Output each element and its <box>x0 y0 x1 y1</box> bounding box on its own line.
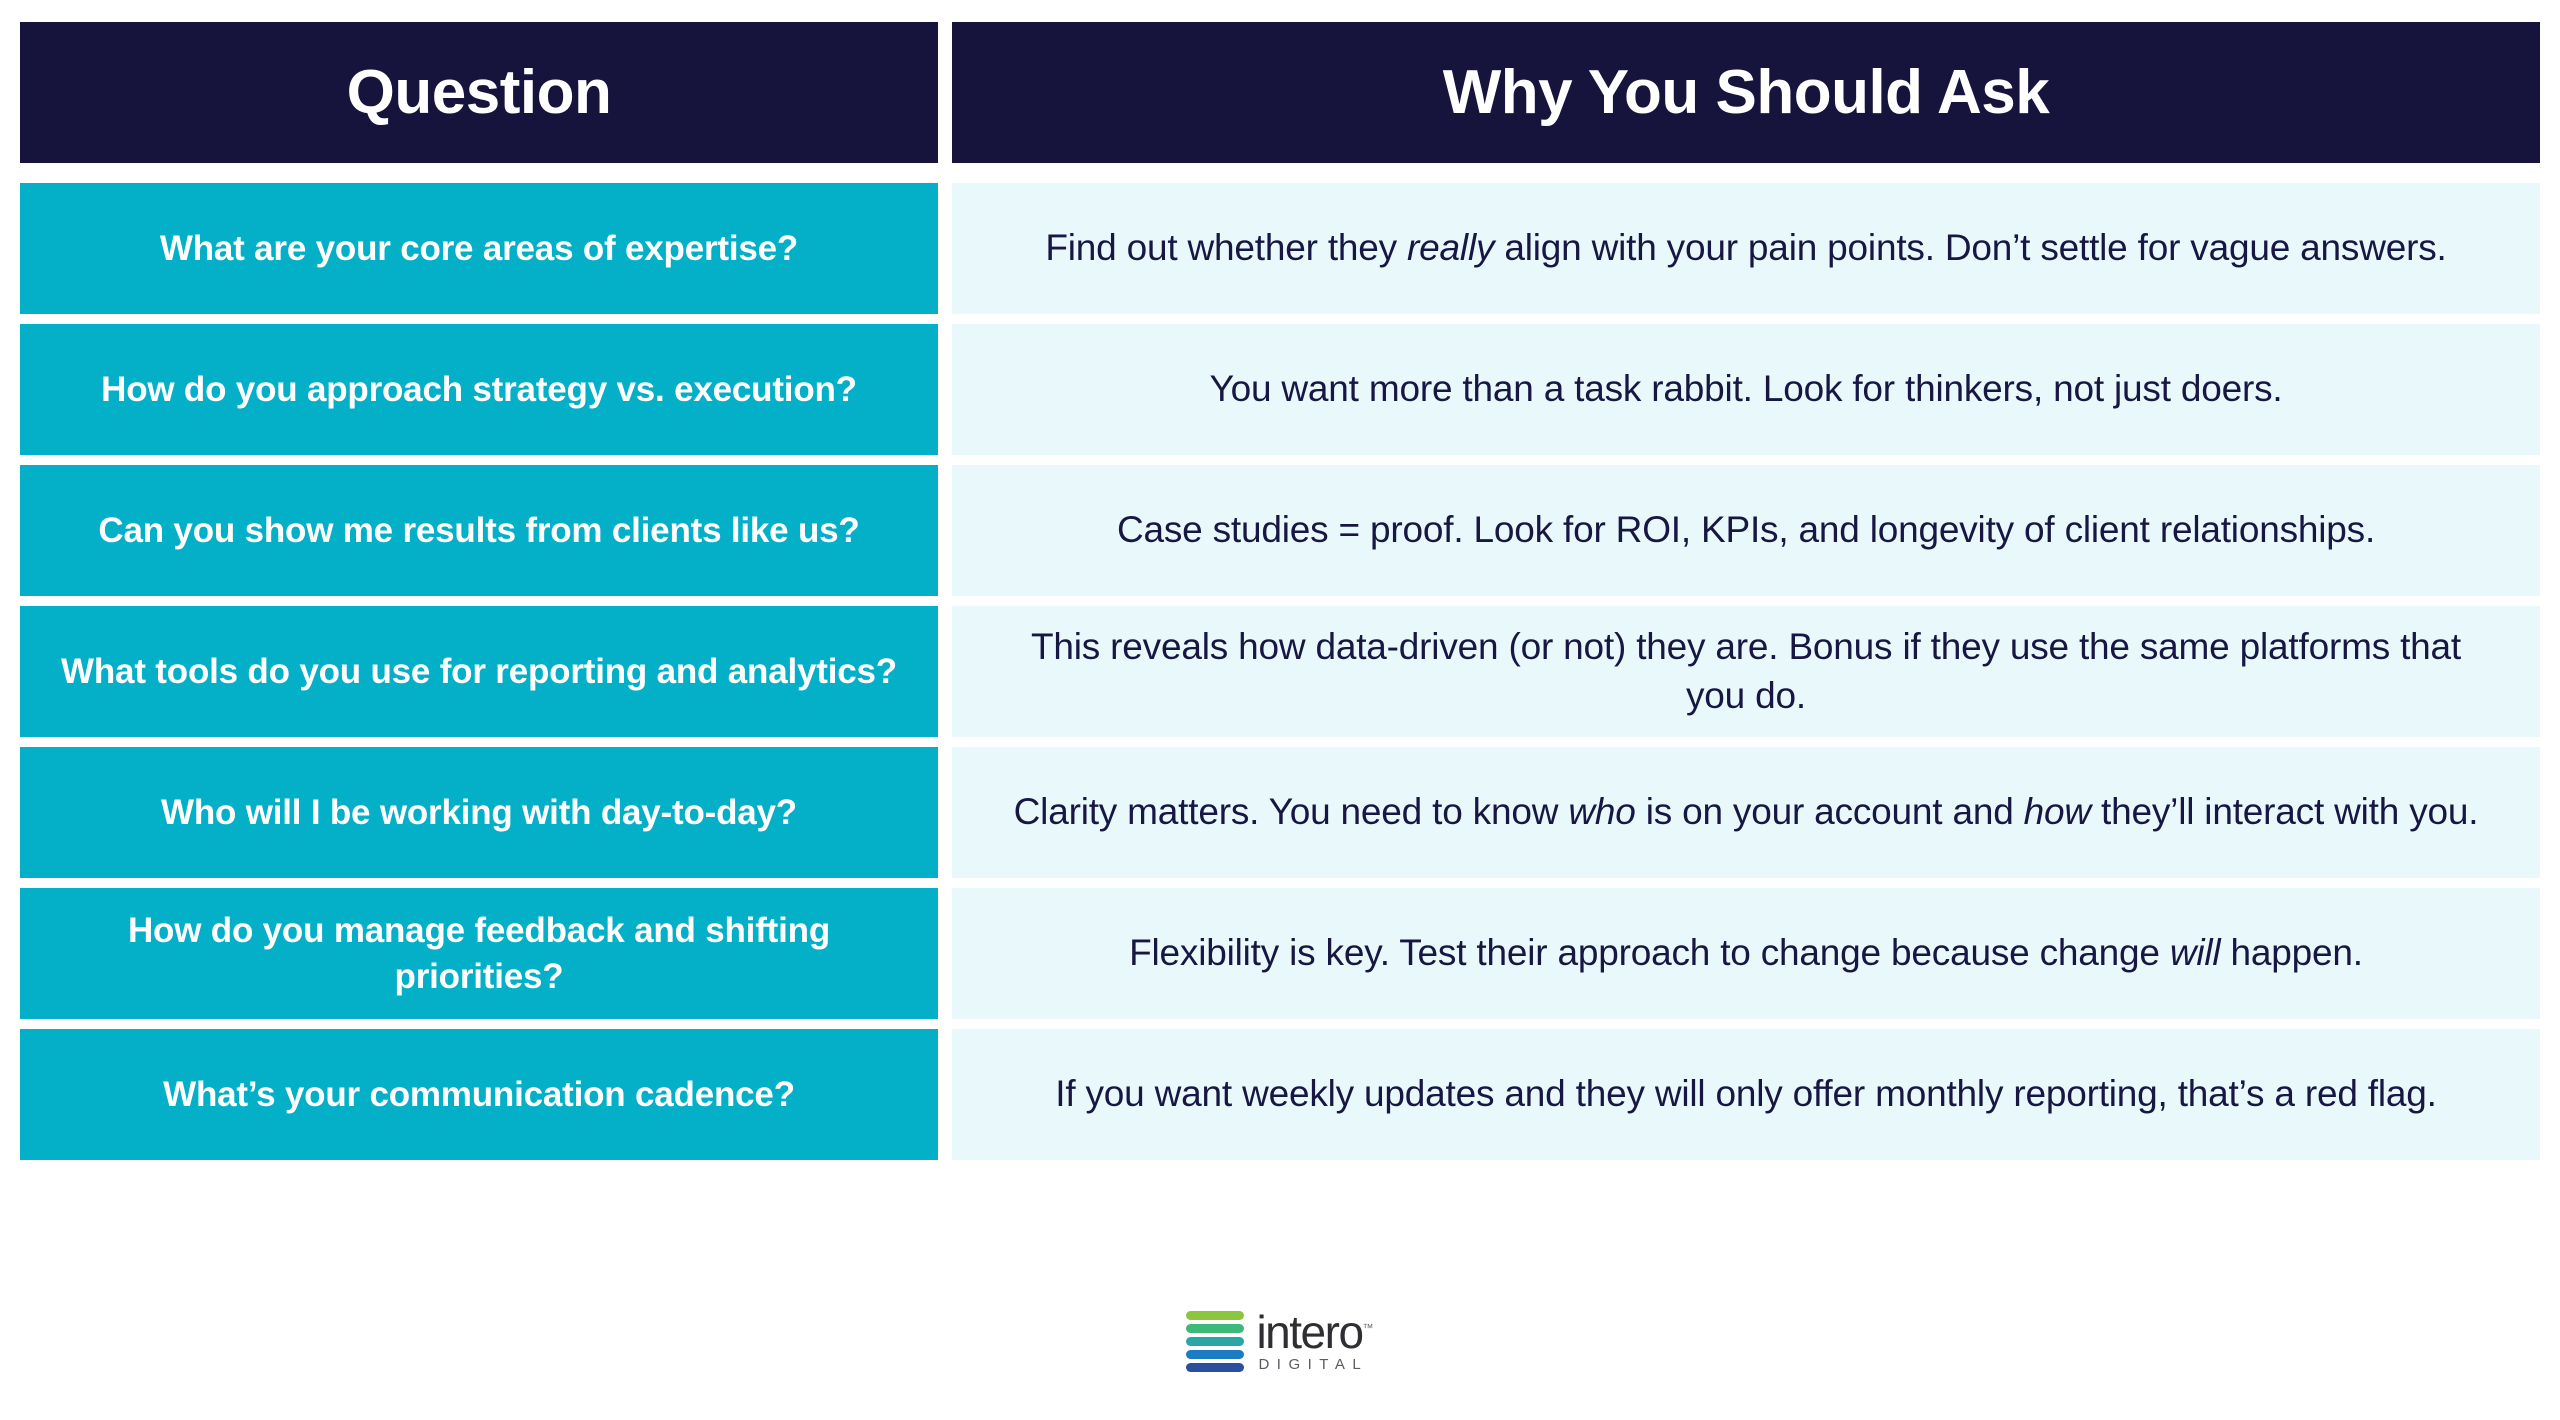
reason-cell: You want more than a task rabbit. Look f… <box>952 324 2540 455</box>
logo-bar-4 <box>1186 1350 1244 1359</box>
qa-table: Question Why You Should Ask What are you… <box>20 22 2540 1160</box>
reason-emphasis: really <box>1407 227 1494 268</box>
logo-bar-1 <box>1186 1311 1244 1320</box>
header-label-reason: Why You Should Ask <box>1443 62 2049 124</box>
header-cell-question: Question <box>20 22 938 163</box>
reason-cell: This reveals how data-driven (or not) th… <box>952 606 2540 737</box>
reason-segment: happen. <box>2220 932 2362 973</box>
reason-segment: Case studies = proof. Look for ROI, KPIs… <box>1117 509 2375 550</box>
reason-text: This reveals how data-driven (or not) th… <box>1012 623 2480 721</box>
reason-cell: Case studies = proof. Look for ROI, KPIs… <box>952 465 2540 596</box>
reason-cell: Clarity matters. You need to know who is… <box>952 747 2540 878</box>
logo-wordmark: intero™ <box>1256 1311 1373 1353</box>
logo-wordmark-text: intero <box>1256 1306 1362 1358</box>
table-row: What tools do you use for reporting and … <box>20 606 2540 737</box>
logo-subtitle: DIGITAL <box>1258 1357 1368 1372</box>
question-cell: How do you manage feedback and shifting … <box>20 888 938 1019</box>
question-text: How do you approach strategy vs. executi… <box>101 367 857 413</box>
intero-digital-logo: intero™ DIGITAL <box>1186 1311 1373 1372</box>
reason-segment: Find out whether they <box>1045 227 1407 268</box>
reason-text: If you want weekly updates and they will… <box>1055 1070 2436 1119</box>
table-row: How do you approach strategy vs. executi… <box>20 324 2540 455</box>
reason-segment: they’ll interact with you. <box>2091 791 2478 832</box>
brand-logo-area: intero™ DIGITAL <box>0 1311 2560 1372</box>
reason-text: Flexibility is key. Test their approach … <box>1129 929 2363 978</box>
logo-trademark-icon: ™ <box>1363 1323 1374 1335</box>
table-row: Who will I be working with day-to-day?Cl… <box>20 747 2540 878</box>
reason-segment: You want more than a task rabbit. Look f… <box>1209 368 2282 409</box>
table-body: What are your core areas of expertise?Fi… <box>20 183 2540 1160</box>
reason-segment: is on your account and <box>1636 791 2024 832</box>
reason-segment: If you want weekly updates and they will… <box>1055 1073 2436 1114</box>
logo-bar-5 <box>1186 1363 1244 1372</box>
table-header-row: Question Why You Should Ask <box>20 22 2540 163</box>
reason-text: You want more than a task rabbit. Look f… <box>1209 365 2282 414</box>
reason-cell: If you want weekly updates and they will… <box>952 1029 2540 1160</box>
question-text: What tools do you use for reporting and … <box>61 649 897 695</box>
logo-bars-icon <box>1186 1311 1244 1372</box>
logo-bar-3 <box>1186 1337 1244 1346</box>
question-text: What’s your communication cadence? <box>163 1072 795 1118</box>
reason-text: Find out whether they really align with … <box>1045 224 2446 273</box>
reason-emphasis: will <box>2170 932 2221 973</box>
question-cell: Who will I be working with day-to-day? <box>20 747 938 878</box>
header-label-question: Question <box>347 62 612 124</box>
reason-segment: Flexibility is key. Test their approach … <box>1129 932 2170 973</box>
question-cell: What are your core areas of expertise? <box>20 183 938 314</box>
reason-text: Case studies = proof. Look for ROI, KPIs… <box>1117 506 2375 555</box>
reason-emphasis: how <box>2024 791 2091 832</box>
question-cell: How do you approach strategy vs. executi… <box>20 324 938 455</box>
table-row: How do you manage feedback and shifting … <box>20 888 2540 1019</box>
question-text: Who will I be working with day-to-day? <box>161 790 797 836</box>
infographic-page: Question Why You Should Ask What are you… <box>0 0 2560 1420</box>
reason-segment: Clarity matters. You need to know <box>1014 791 1569 832</box>
reason-emphasis: who <box>1568 791 1635 832</box>
logo-wordmark-group: intero™ DIGITAL <box>1256 1311 1373 1371</box>
question-text: How do you manage feedback and shifting … <box>46 908 912 999</box>
question-cell: Can you show me results from clients lik… <box>20 465 938 596</box>
question-text: What are your core areas of expertise? <box>160 226 798 272</box>
logo-bar-2 <box>1186 1324 1244 1333</box>
header-cell-reason: Why You Should Ask <box>952 22 2540 163</box>
reason-cell: Find out whether they really align with … <box>952 183 2540 314</box>
table-row: What are your core areas of expertise?Fi… <box>20 183 2540 314</box>
reason-cell: Flexibility is key. Test their approach … <box>952 888 2540 1019</box>
table-row: Can you show me results from clients lik… <box>20 465 2540 596</box>
reason-text: Clarity matters. You need to know who is… <box>1014 788 2479 837</box>
question-cell: What tools do you use for reporting and … <box>20 606 938 737</box>
reason-segment: This reveals how data-driven (or not) th… <box>1031 626 2461 716</box>
reason-segment: align with your pain points. Don’t settl… <box>1494 227 2446 268</box>
question-cell: What’s your communication cadence? <box>20 1029 938 1160</box>
question-text: Can you show me results from clients lik… <box>98 508 859 554</box>
table-row: What’s your communication cadence?If you… <box>20 1029 2540 1160</box>
